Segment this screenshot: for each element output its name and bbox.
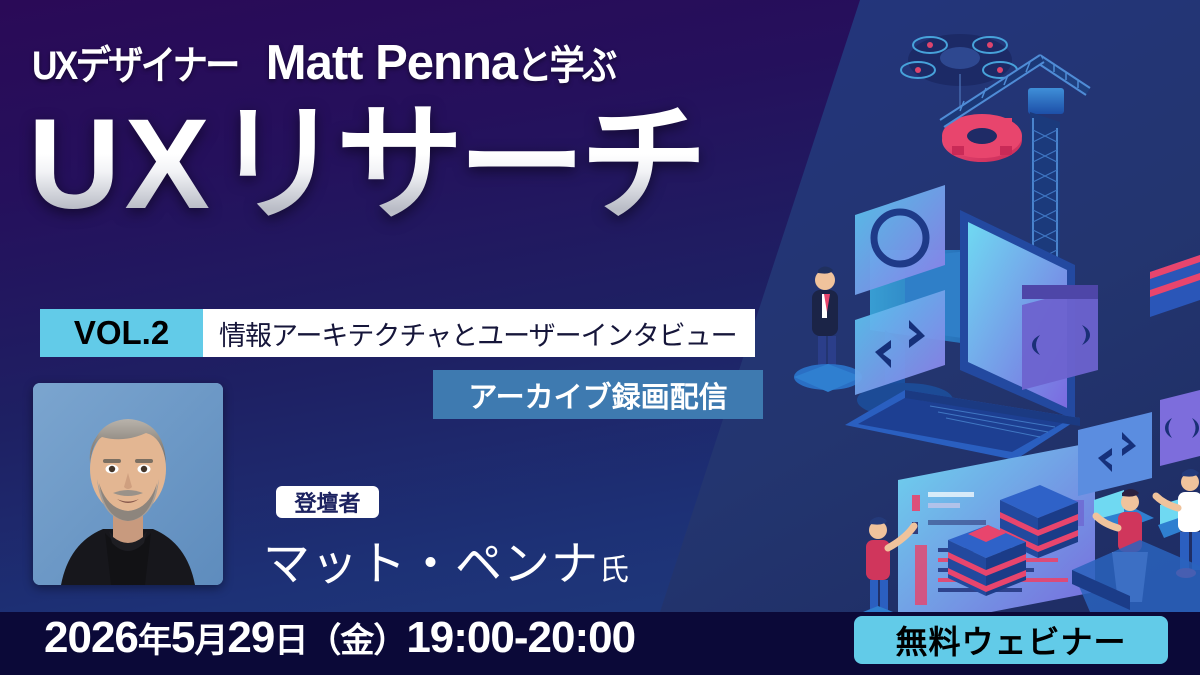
kicker-jp-tail: と学ぶ [517,33,615,91]
event-time-range: 19:00-20:00 [406,613,635,662]
page-title: UXリサーチ [28,96,702,234]
archive-badge: アーカイブ録画配信 [433,370,763,419]
title-part-ux: UX [28,93,214,236]
page-kicker: UXデザイナーMatt Pennaと学ぶ [32,33,628,91]
date-weekday: （金） [307,622,406,660]
person-figure [794,267,862,393]
date-year: 2026 [44,613,138,662]
date-unit-day: 日 [274,622,307,660]
date-day: 29 [227,613,274,662]
volume-row: VOL.2 情報アーキテクチャとユーザーインタビュー [40,309,755,357]
volume-tag: VOL.2 [40,309,203,357]
webinar-banner: UXデザイナーMatt Pennaと学ぶ UXリサーチ VOL.2 情報アーキテ… [0,0,1200,675]
kicker-speaker-name: Matt Penna [266,36,517,90]
event-datetime: 2026年5月29日（金）19:00-20:00 [44,613,635,663]
title-part-research: リサーチ [214,93,702,236]
speaker-portrait [33,383,223,585]
portrait-photo [33,383,223,585]
volume-topic: 情報アーキテクチャとユーザーインタビュー [203,309,755,357]
speaker-name-text: マット・ペンナ [263,537,599,590]
kicker-jp-lead: UXデザイナー [32,33,238,91]
date-month: 5 [171,613,194,662]
server-stack-icon [1150,255,1200,317]
free-webinar-badge: 無料ウェビナー [854,616,1168,664]
date-unit-month: 月 [194,622,227,660]
date-unit-year: 年 [138,622,171,660]
speaker-name: マット・ペンナ氏 [263,525,629,594]
speaker-name-suffix: 氏 [599,554,629,587]
speaker-role-label: 登壇者 [276,486,379,518]
